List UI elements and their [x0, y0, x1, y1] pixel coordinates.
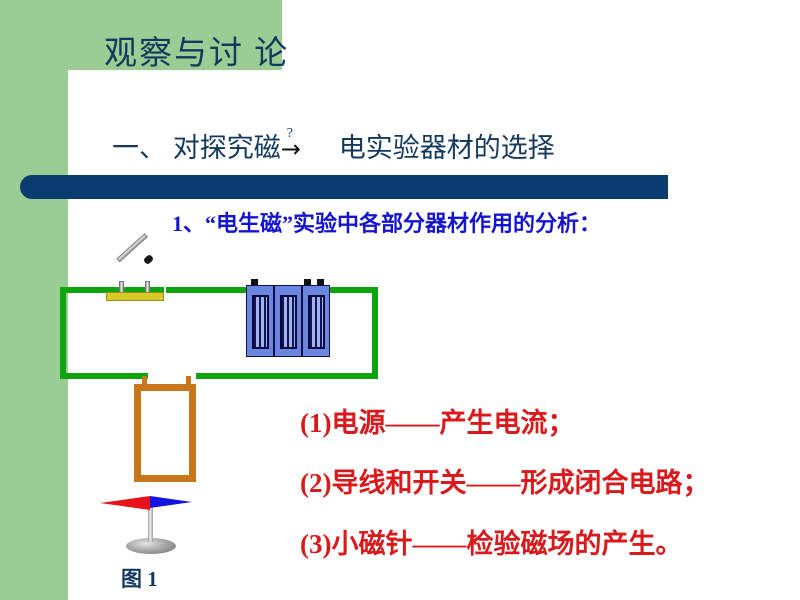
slide-title: 观察与讨 论 — [104, 26, 289, 74]
conductor-left — [134, 384, 141, 482]
conductor-right — [189, 384, 196, 482]
wire-segment-top-right — [322, 287, 378, 293]
navy-divider-bar — [20, 175, 668, 199]
battery-component — [246, 285, 330, 357]
answer-line-3: (3)小磁针——检验磁场的产生。 — [300, 522, 682, 561]
battery-plates-2 — [280, 295, 297, 349]
right-arrow-icon: → — [281, 137, 301, 161]
compass-needle-red — [100, 496, 150, 510]
battery-plates-3 — [308, 295, 325, 349]
battery-cell-2 — [274, 285, 302, 357]
wire-segment-bottom — [196, 373, 378, 379]
battery-cell-1 — [246, 285, 274, 357]
heading-prefix: 一、 对探究磁 — [112, 126, 281, 165]
wire-segment-bottom-left — [60, 373, 148, 379]
battery-cell-3 — [302, 285, 330, 357]
answer-line-1: (1)电源——产生电流； — [300, 401, 574, 440]
switch-base — [106, 292, 164, 301]
battery-plates-1 — [252, 295, 269, 349]
compass-needle-component — [100, 490, 200, 560]
section-heading: 一、 对探究磁 ? → 电实验器材的选择 — [112, 126, 555, 165]
heading-suffix: 电实验器材的选择 — [339, 126, 555, 165]
conductor-bottom — [134, 475, 196, 482]
figure-caption: 图 1 — [121, 563, 158, 593]
wire-segment-top-middle — [166, 287, 251, 293]
sub-heading: 1、“电生磁”实验中各部分器材作用的分析： — [172, 206, 601, 238]
answer-line-2: (2)导线和开关——形成闭合电路； — [300, 461, 709, 500]
compass-needle-blue — [150, 496, 192, 508]
green-left-panel — [0, 0, 68, 600]
question-arrow-group: ? → — [281, 131, 321, 165]
slide-canvas: 观察与讨 论 一、 对探究磁 ? → 电实验器材的选择 1、“电生磁”实验中各部… — [0, 0, 800, 600]
conductor-top — [134, 384, 196, 391]
wire-segment-right — [372, 287, 378, 379]
wire-segment-left — [60, 287, 66, 379]
